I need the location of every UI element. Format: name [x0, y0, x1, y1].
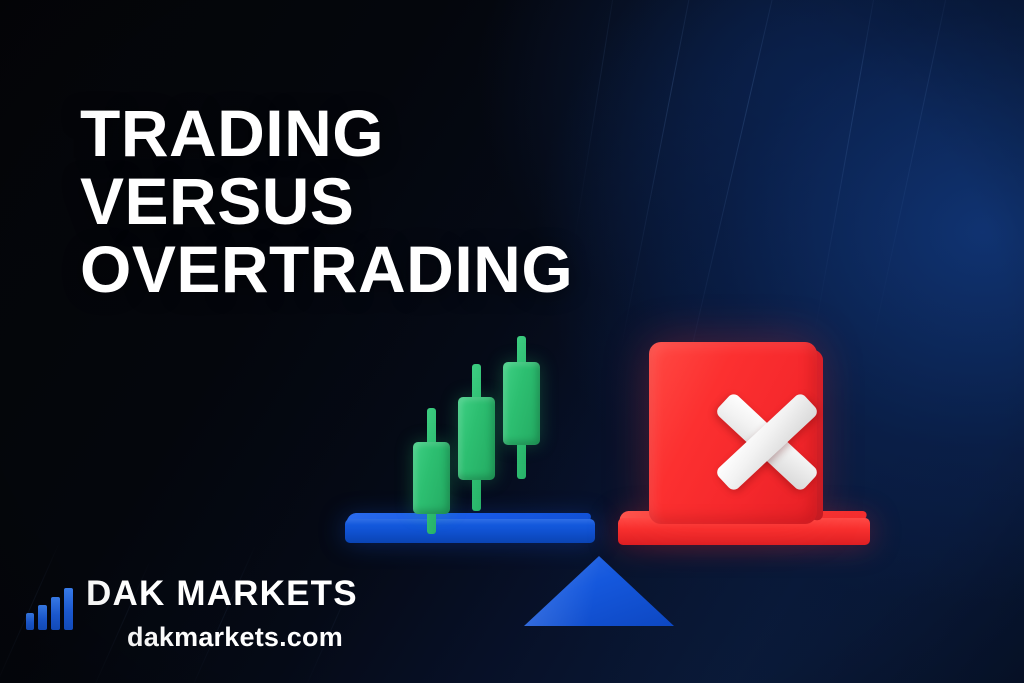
x-stroke-b — [714, 392, 819, 493]
x-card — [649, 342, 817, 524]
x-platform-top-face — [618, 511, 868, 523]
fulcrum-highlight — [524, 556, 674, 626]
candlestick-body — [458, 397, 495, 480]
balance-beam-top-face — [345, 513, 593, 525]
headline-line-3: OVERTRADING — [80, 235, 720, 303]
candlestick-3 — [503, 360, 540, 525]
balance-beam — [345, 519, 595, 541]
ascending-bar-chart-icon — [26, 580, 82, 630]
candlestick-body — [503, 362, 540, 445]
brand-logo[interactable]: DAK MARKETS dakmarkets.com — [26, 574, 426, 674]
candlestick-body — [413, 442, 450, 514]
fulcrum-body — [524, 556, 674, 626]
candlestick-1 — [413, 360, 450, 525]
candlestick-wick — [472, 364, 481, 511]
balance-beam-front-face — [345, 529, 595, 543]
brand-url: dakmarkets.com — [127, 621, 343, 653]
candlestick-wick — [517, 336, 526, 479]
poster-canvas: TRADING VERSUS OVERTRADING — [0, 0, 1024, 683]
headline-line-2: VERSUS — [80, 167, 720, 235]
logo-bar-4 — [64, 588, 73, 630]
headline-line-1: TRADING — [80, 99, 720, 167]
x-card-side-face — [811, 349, 823, 522]
brand-name: DAK MARKETS — [86, 574, 358, 614]
candlestick-2 — [458, 360, 495, 525]
light-streak — [814, 0, 881, 334]
red-x-block — [615, 335, 877, 563]
fulcrum-triangle — [524, 556, 674, 626]
page-title: TRADING VERSUS OVERTRADING — [80, 99, 720, 303]
logo-bar-3 — [51, 597, 60, 630]
x-platform — [618, 518, 870, 545]
candlestick-wick — [427, 408, 436, 534]
candlestick-chart-icon — [395, 360, 545, 525]
light-streak — [871, 0, 961, 351]
logo-bar-1 — [26, 613, 34, 630]
logo-bar-2 — [38, 605, 47, 630]
close-icon — [709, 388, 825, 496]
x-stroke-a — [714, 392, 819, 493]
